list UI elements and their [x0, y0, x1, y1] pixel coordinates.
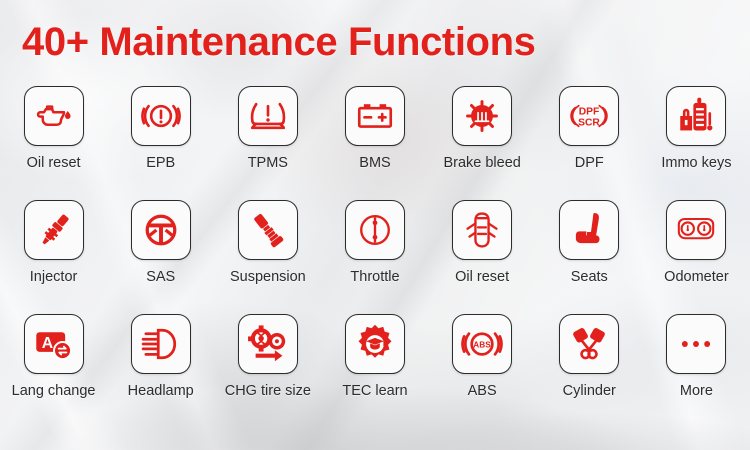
grid-cell: Throttle: [321, 200, 428, 314]
function-label: Oil reset: [27, 155, 81, 171]
function-label: Headlamp: [128, 383, 194, 399]
oil-can-icon: [34, 96, 74, 136]
svg-text:ABS: ABS: [473, 340, 491, 349]
function-label: Cylinder: [563, 383, 616, 399]
grid-cell: TEC learn: [321, 314, 428, 428]
svg-text:SCR: SCR: [578, 118, 600, 129]
function-label: Immo keys: [661, 155, 731, 171]
grid-cell: ABS ABS: [429, 314, 536, 428]
grid-cell: Injector: [0, 200, 107, 314]
function-label: Brake bleed: [443, 155, 520, 171]
function-tile-cylinder[interactable]: [559, 314, 619, 374]
function-tile-lang-change[interactable]: A: [24, 314, 84, 374]
tec-learn-gear-icon: [353, 322, 397, 366]
function-tile-odometer[interactable]: [666, 200, 726, 260]
function-tile-immo-keys[interactable]: [666, 86, 726, 146]
function-tile-sas[interactable]: [131, 200, 191, 260]
function-label: SAS: [146, 269, 175, 285]
more-ellipsis-icon: [675, 323, 717, 365]
grid-cell: EPB: [107, 86, 214, 200]
grid-cell: CHG tire size: [214, 314, 321, 428]
grid-cell: Odometer: [643, 200, 750, 314]
throttle-body-icon: [354, 209, 396, 251]
svg-text:A: A: [41, 335, 52, 352]
grid-cell: BMS: [321, 86, 428, 200]
grid-cell: A Lang change: [0, 314, 107, 428]
seat-icon: [568, 209, 610, 251]
grid-cell: TPMS: [214, 86, 321, 200]
headlamp-icon: [139, 322, 183, 366]
function-tile-bms[interactable]: [345, 86, 405, 146]
svg-text:DPF: DPF: [579, 107, 600, 118]
function-tile-brake-bleed[interactable]: [452, 86, 512, 146]
car-top-view-icon: [461, 209, 503, 251]
grid-cell: Immo keys: [643, 86, 750, 200]
function-tile-injector[interactable]: [24, 200, 84, 260]
grid-cell: Seats: [536, 200, 643, 314]
function-label: Odometer: [664, 269, 728, 285]
function-tile-tec-learn[interactable]: [345, 314, 405, 374]
function-label: Seats: [571, 269, 608, 285]
steering-wheel-icon: [140, 209, 182, 251]
grid-cell: Cylinder: [536, 314, 643, 428]
cylinder-pistons-icon: [568, 323, 610, 365]
function-label: Oil reset: [455, 269, 509, 285]
grid-cell: Oil reset: [429, 200, 536, 314]
grid-cell: Headlamp: [107, 314, 214, 428]
function-tile-epb[interactable]: [131, 86, 191, 146]
function-label: BMS: [359, 155, 390, 171]
odometer-gauges-icon: [674, 208, 718, 252]
function-label: ABS: [468, 383, 497, 399]
function-label: EPB: [146, 155, 175, 171]
function-tile-abs[interactable]: ABS: [452, 314, 512, 374]
epb-brake-icon: [140, 95, 182, 137]
grid-cell: Brake bleed: [429, 86, 536, 200]
battery-icon: [354, 95, 396, 137]
function-tile-oil-reset[interactable]: [24, 86, 84, 146]
function-label: Throttle: [350, 269, 399, 285]
function-label: TPMS: [248, 155, 288, 171]
page-title: 40+ Maintenance Functions: [22, 20, 535, 65]
function-tile-throttle[interactable]: [345, 200, 405, 260]
abs-icon: ABS: [460, 322, 504, 366]
function-tile-suspension[interactable]: [238, 200, 298, 260]
fuel-injector-icon: [33, 209, 75, 251]
function-label: Injector: [30, 269, 78, 285]
function-tile-chg-tire-size[interactable]: [238, 314, 298, 374]
brake-bleed-icon: [461, 95, 503, 137]
function-tile-oil-reset[interactable]: [452, 200, 512, 260]
function-label: Lang change: [12, 383, 96, 399]
grid-cell: DPF SCR DPF: [536, 86, 643, 200]
function-label: Suspension: [230, 269, 306, 285]
immobilizer-key-icon: [675, 95, 717, 137]
language-change-icon: A: [33, 323, 75, 365]
function-tile-seats[interactable]: [559, 200, 619, 260]
function-label: DPF: [575, 155, 604, 171]
tpms-tire-pressure-icon: [247, 95, 289, 137]
page-content: 40+ Maintenance Functions Oil reset EPB …: [0, 0, 750, 450]
grid-cell: More: [643, 314, 750, 428]
function-label: TEC learn: [342, 383, 407, 399]
grid-cell: Oil reset: [0, 86, 107, 200]
function-tile-headlamp[interactable]: [131, 314, 191, 374]
function-label: CHG tire size: [225, 383, 311, 399]
function-tile-dpf[interactable]: DPF SCR: [559, 86, 619, 146]
change-tire-size-icon: [246, 322, 290, 366]
grid-cell: SAS: [107, 200, 214, 314]
function-tile-more[interactable]: [666, 314, 726, 374]
dpf-scr-icon: DPF SCR: [567, 94, 611, 138]
suspension-shock-icon: [247, 209, 289, 251]
grid-cell: Suspension: [214, 200, 321, 314]
maintenance-function-grid: Oil reset EPB TPMS BMS Brake bleed: [0, 86, 750, 428]
function-tile-tpms[interactable]: [238, 86, 298, 146]
function-label: More: [680, 383, 713, 399]
